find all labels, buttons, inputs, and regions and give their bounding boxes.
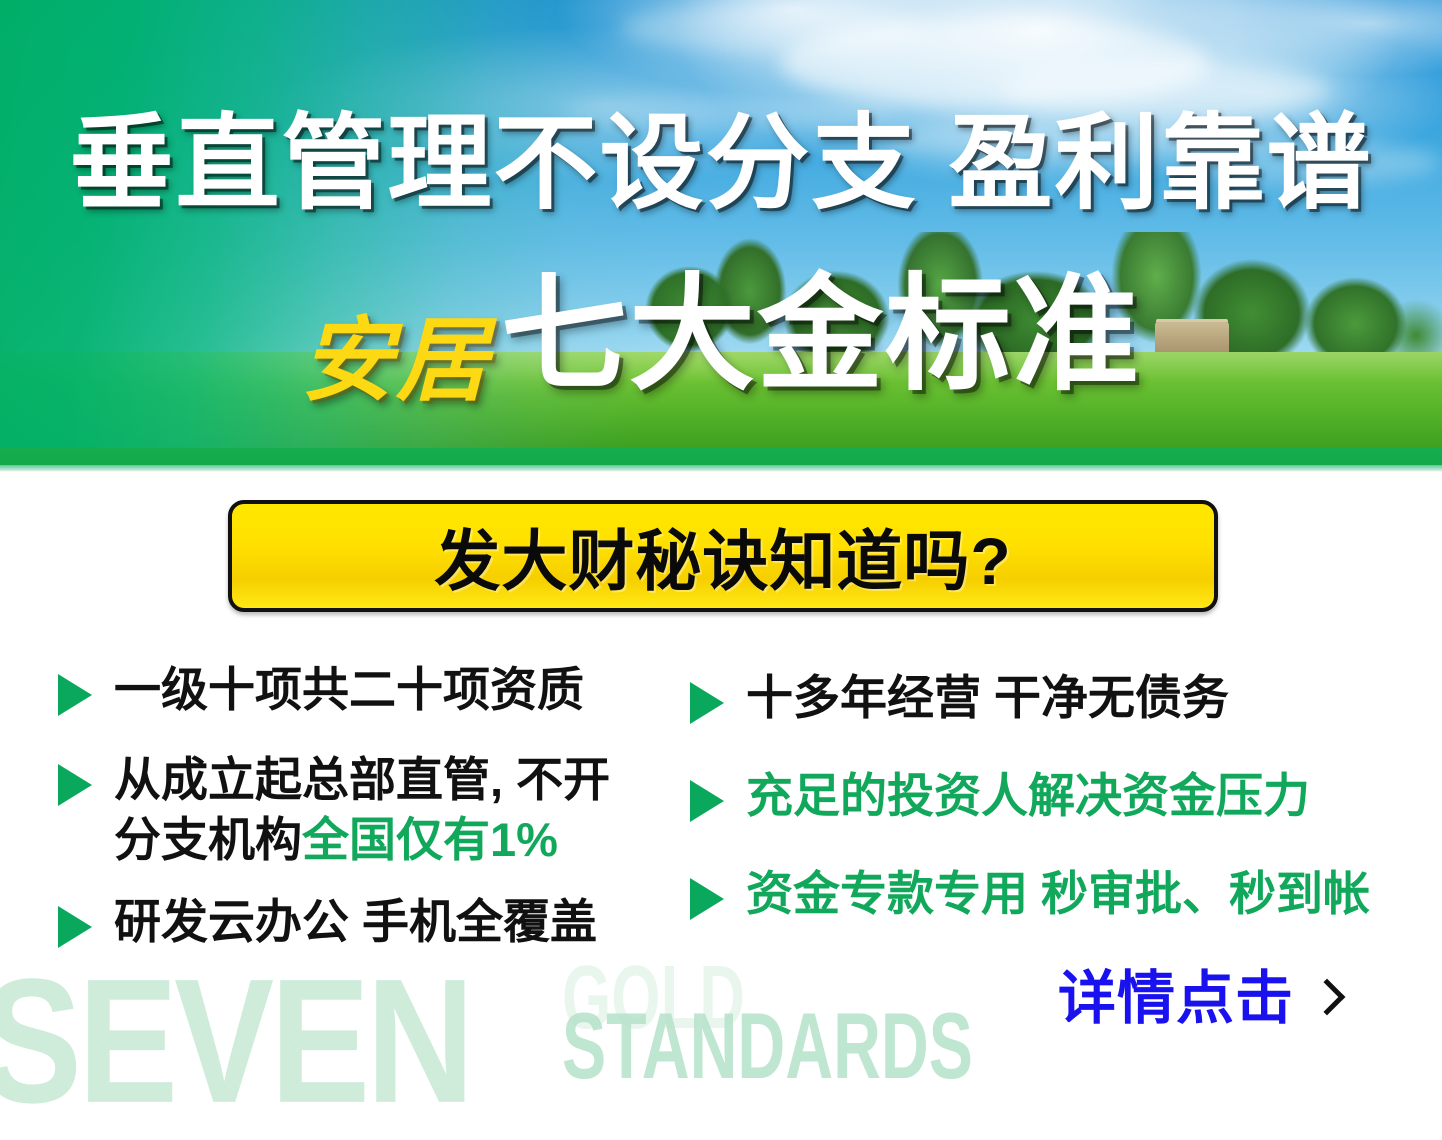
question-banner-label: 发大财秘诀知道吗?	[434, 508, 1011, 604]
chevron-right-icon	[1309, 979, 1346, 1016]
feature-list: 一级十项共二十项资质 从成立起总部直管, 不开 分支机构全国仅有1% 研发云办公…	[0, 660, 1442, 990]
details-cta-link[interactable]: 详情点击	[1058, 970, 1340, 1028]
feature-left-2-line2: 分支机构	[114, 813, 302, 866]
hero-bottom-fade-band	[0, 465, 1442, 472]
headline-brand-anju: 安居	[301, 315, 491, 407]
feature-right-2-label: 充足的投资人解决资金压力	[746, 766, 1310, 826]
headline-line-2: 安居七大金标准	[0, 272, 1442, 398]
list-item: 从成立起总部直管, 不开 分支机构全国仅有1%	[58, 750, 678, 870]
list-item: 研发云办公 手机全覆盖	[58, 892, 678, 952]
feature-right-3-label: 资金专款专用 秒审批、秒到帐	[746, 864, 1370, 924]
feature-column-left: 一级十项共二十项资质 从成立起总部直管, 不开 分支机构全国仅有1% 研发云办公…	[58, 660, 678, 981]
headline-seven-gold-standards: 七大金标准	[501, 272, 1141, 398]
triangle-bullet-icon	[58, 674, 92, 716]
hero-banner: 垂直管理不设分支 盈利靠谱 安居七大金标准	[0, 0, 1442, 472]
headline-line-1: 垂直管理不设分支 盈利靠谱	[0, 112, 1442, 216]
feature-column-right: 十多年经营 干净无债务 充足的投资人解决资金压力 资金专款专用 秒审批、秒到帐	[690, 668, 1390, 962]
triangle-bullet-icon	[690, 878, 724, 920]
feature-left-2-line1: 从成立起总部直管, 不开	[114, 753, 610, 806]
list-item: 一级十项共二十项资质	[58, 660, 678, 720]
feature-left-2-label: 从成立起总部直管, 不开 分支机构全国仅有1%	[114, 750, 610, 870]
triangle-bullet-icon	[690, 682, 724, 724]
triangle-bullet-icon	[690, 780, 724, 822]
list-item: 充足的投资人解决资金压力	[690, 766, 1390, 826]
watermark-standards: STANDARDS	[562, 1000, 973, 1094]
feature-left-2-highlight: 全国仅有1%	[302, 813, 558, 866]
list-item: 资金专款专用 秒审批、秒到帐	[690, 864, 1390, 924]
feature-left-3-label: 研发云办公 手机全覆盖	[114, 892, 597, 952]
triangle-bullet-icon	[58, 764, 92, 806]
question-banner[interactable]: 发大财秘诀知道吗?	[228, 500, 1218, 612]
list-item: 十多年经营 干净无债务	[690, 668, 1390, 728]
feature-right-1-label: 十多年经营 干净无债务	[746, 668, 1229, 728]
details-cta-label: 详情点击	[1058, 970, 1294, 1028]
triangle-bullet-icon	[58, 906, 92, 948]
hero-bottom-green-band	[0, 448, 1442, 465]
feature-left-1-label: 一级十项共二十项资质	[114, 660, 584, 720]
